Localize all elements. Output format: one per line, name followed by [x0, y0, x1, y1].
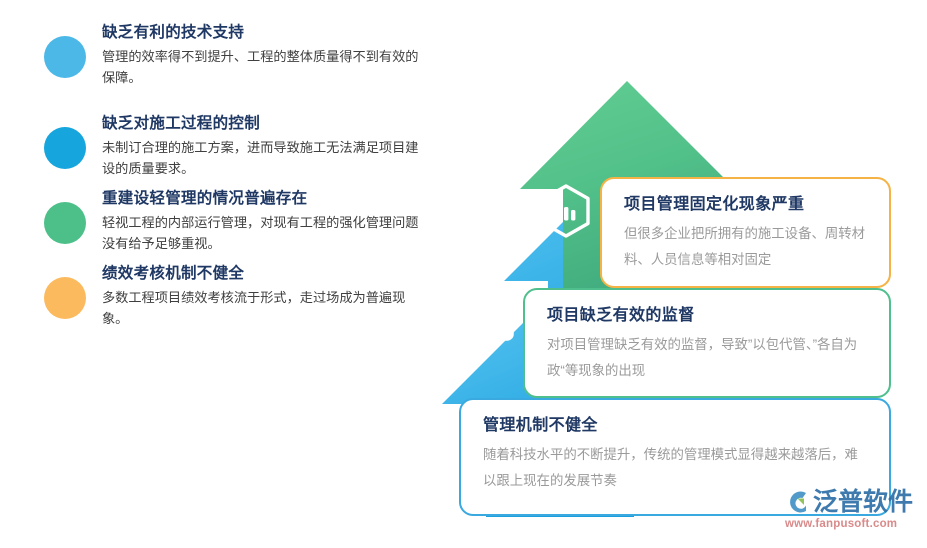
info-card-description: 但很多企业把所拥有的施工设备、周转材料、人员信息等相对固定 — [624, 221, 869, 273]
watermark-url: www.fanpusoft.com — [784, 518, 924, 530]
info-card-title: 项目缺乏有效的监督 — [547, 304, 869, 328]
fanpu-logo-icon — [784, 489, 810, 515]
watermark-logo: 泛普软件 www.fanpusoft.com — [784, 487, 924, 535]
watermark-row: 泛普软件 — [784, 487, 924, 517]
info-card-description: 对项目管理缺乏有效的监督，导致”以包代管、”各自为政“等现象的出现 — [547, 332, 869, 384]
info-card: 项目缺乏有效的监督 对项目管理缺乏有效的监督，导致”以包代管、”各自为政“等现象… — [523, 288, 891, 398]
book-document-icon — [462, 289, 520, 347]
info-card-title: 管理机制不健全 — [483, 414, 869, 438]
hexagon-bar-chart-icon — [537, 182, 595, 240]
info-card: 项目管理固定化现象严重 但很多企业把所拥有的施工设备、周转材料、人员信息等相对固… — [600, 177, 891, 288]
bullet-dot-icon — [44, 36, 86, 78]
plus-minus-square-icon — [398, 410, 456, 468]
bullet-dot-icon — [44, 277, 86, 319]
info-card-title: 项目管理固定化现象严重 — [624, 193, 869, 217]
watermark-brand-name: 泛普软件 — [813, 488, 913, 516]
bullet-dot-icon — [44, 127, 86, 169]
bullet-dot-icon — [44, 202, 86, 244]
